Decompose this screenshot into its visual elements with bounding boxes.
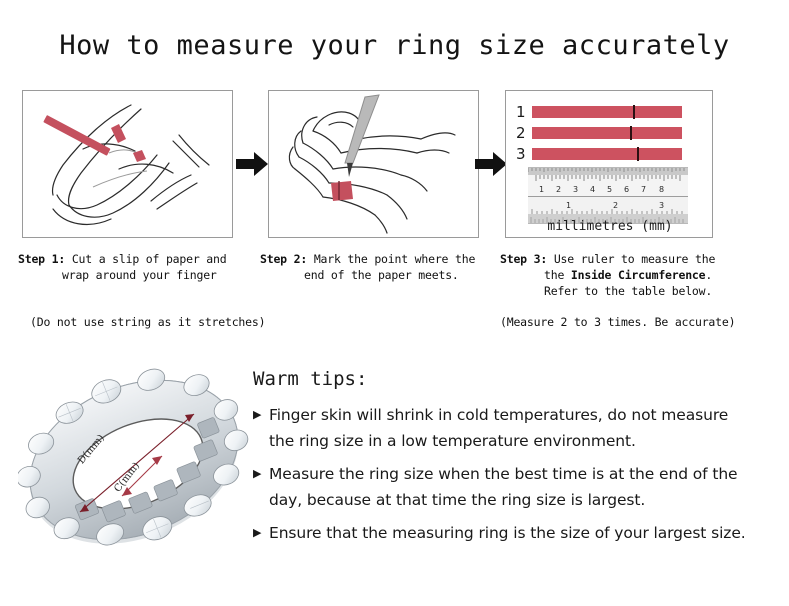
svg-text:6: 6	[624, 185, 629, 194]
tip-text: Ensure that the measuring ring is the si…	[269, 520, 746, 546]
svg-text:3: 3	[573, 185, 578, 194]
step1-line2: wrap around your finger	[18, 267, 258, 283]
paper-strip-row: 1	[516, 103, 682, 121]
step1-label: Step 1:	[18, 252, 65, 266]
tip-item: ▶ Measure the ring size when the best ti…	[253, 461, 753, 513]
step3-caption: Step 3: Use ruler to measure the the Ins…	[500, 251, 750, 299]
svg-text:2: 2	[613, 201, 618, 210]
step3-line2-prefix: the	[544, 268, 571, 282]
paper-strip	[532, 127, 682, 139]
step1-line1: Cut a slip of paper and	[72, 252, 227, 266]
svg-text:3: 3	[659, 201, 664, 210]
strip-mark	[637, 147, 639, 161]
step2-illustration-panel	[268, 90, 479, 238]
svg-text:1: 1	[566, 201, 571, 210]
strip-number: 1	[516, 103, 532, 121]
svg-text:8: 8	[659, 185, 664, 194]
hand-with-paper-slip-icon	[23, 91, 231, 236]
step3-line2: the Inside Circumference.	[500, 267, 750, 283]
arrow-right-icon	[236, 151, 268, 177]
tip-text: Measure the ring size when the best time…	[269, 461, 753, 513]
ruler-scales-icon: 1 2 3 4 5 6 7 8 1 2 3	[528, 168, 688, 223]
step3-label: Step 3:	[500, 252, 547, 266]
diamond-eternity-ring-photo	[18, 352, 250, 566]
svg-text:7: 7	[641, 185, 646, 194]
step3-line1: Use ruler to measure the	[554, 252, 715, 266]
svg-text:2: 2	[556, 185, 561, 194]
strip-number: 2	[516, 124, 532, 142]
tip-item: ▶ Finger skin will shrink in cold temper…	[253, 402, 753, 454]
strip-mark	[630, 126, 632, 140]
step2-line1: Mark the point where the	[314, 252, 475, 266]
step2-caption: Step 2: Mark the point where the end of …	[260, 251, 500, 283]
step1-illustration-panel	[22, 90, 233, 238]
warm-tips-heading: Warm tips:	[253, 368, 367, 390]
step3-illustration-panel: 1 2 3	[505, 90, 713, 238]
paper-strip	[532, 106, 682, 118]
strip-mark	[633, 105, 635, 119]
page-title: How to measure your ring size accurately	[0, 30, 789, 61]
triangle-bullet-icon: ▶	[253, 402, 269, 428]
ruler-graphic: 1 2 3 4 5 6 7 8 1 2 3	[528, 167, 688, 224]
paper-strip	[532, 148, 682, 160]
step2-line2: end of the paper meets.	[260, 267, 500, 283]
step3-line3: Refer to the table below.	[500, 283, 750, 299]
paper-strip-row: 3	[516, 145, 682, 163]
step3-emphasis: Inside Circumference	[571, 268, 705, 282]
ring-size-guide-page: How to measure your ring size accurately	[0, 0, 789, 606]
step1-note: (Do not use string as it stretches)	[30, 315, 265, 329]
warm-tips-list: ▶ Finger skin will shrink in cold temper…	[253, 402, 753, 553]
step1-caption: Step 1: Cut a slip of paper and wrap aro…	[18, 251, 258, 283]
strip-number: 3	[516, 145, 532, 163]
ring-diagram: D(mm) C(mm)	[18, 352, 250, 566]
triangle-bullet-icon: ▶	[253, 520, 269, 546]
svg-text:1: 1	[539, 185, 544, 194]
unit-caption: millimetres (mm)	[506, 219, 713, 234]
step2-label: Step 2:	[260, 252, 307, 266]
tip-text: Finger skin will shrink in cold temperat…	[269, 402, 753, 454]
arrow-right-icon	[475, 151, 507, 177]
paper-strip-row: 2	[516, 124, 682, 142]
svg-text:4: 4	[590, 185, 595, 194]
svg-text:5: 5	[607, 185, 612, 194]
tip-item: ▶ Ensure that the measuring ring is the …	[253, 520, 753, 546]
step3-note: (Measure 2 to 3 times. Be accurate)	[500, 315, 735, 329]
hand-with-pen-marking-icon	[269, 91, 477, 236]
triangle-bullet-icon: ▶	[253, 461, 269, 487]
step3-line2-suffix: .	[705, 268, 712, 282]
